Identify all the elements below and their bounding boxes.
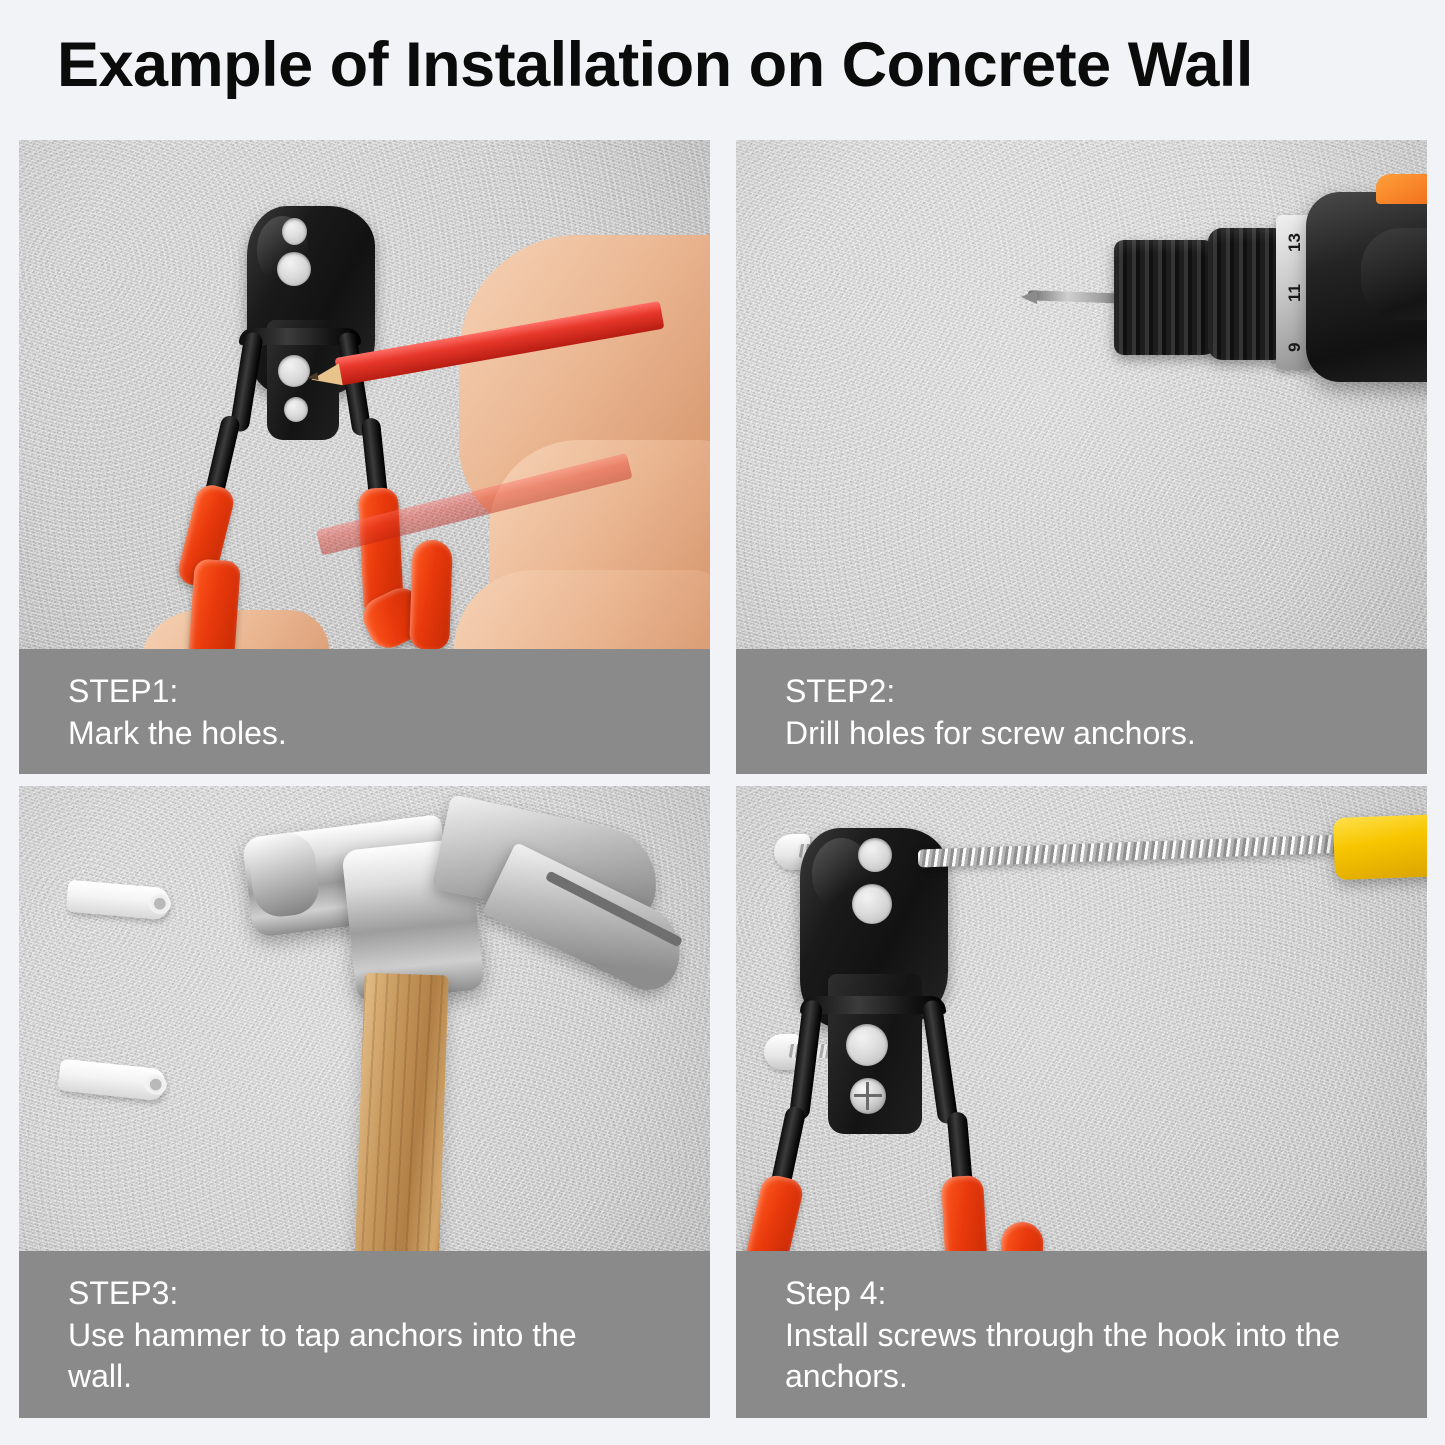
mounting-hole-1	[282, 218, 307, 245]
steps-grid: STEP1: Mark the holes. 13 11 9	[19, 140, 1427, 1416]
clutch-number-11: 11	[1285, 272, 1305, 302]
mounting-hole-2	[852, 884, 892, 924]
hook-arm-right-upper	[921, 999, 958, 1125]
mounting-hole-1	[858, 838, 892, 872]
step-3-label: STEP3:	[68, 1273, 710, 1315]
mounting-hole-3	[846, 1024, 888, 1066]
step-1-label: STEP1:	[68, 671, 710, 713]
drill-bit-point	[1021, 290, 1037, 304]
hook-tip-right-end	[409, 539, 453, 650]
installed-screw-head	[850, 1078, 886, 1114]
step-panel-3: STEP3: Use hammer to tap anchors into th…	[19, 786, 710, 1418]
step-3-caption: STEP3: Use hammer to tap anchors into th…	[19, 1251, 710, 1418]
step-1-caption: STEP1: Mark the holes.	[19, 649, 710, 774]
step-panel-2: 13 11 9 STEP2: Drill holes for screw anc…	[736, 140, 1427, 774]
step-2-text: Drill holes for screw anchors.	[785, 713, 1427, 755]
drill-chuck	[1114, 240, 1219, 355]
step-4-caption: Step 4: Install screws through the hook …	[736, 1251, 1427, 1418]
step-2-caption: STEP2: Drill holes for screw anchors.	[736, 649, 1427, 774]
step-1-text: Mark the holes.	[68, 713, 710, 755]
drill-orange-top-accent	[1376, 174, 1427, 204]
mounting-hole-3	[278, 355, 310, 387]
drill-body-inset	[1361, 228, 1427, 320]
mounting-hole-4	[284, 397, 308, 422]
mounting-hole-2	[277, 252, 311, 286]
step-4-text-line-2: anchors.	[785, 1356, 1427, 1398]
step-4-label: Step 4:	[785, 1273, 1427, 1315]
step-2-label: STEP2:	[785, 671, 1427, 713]
step-panel-4: Step 4: Install screws through the hook …	[736, 786, 1427, 1418]
step-panel-1: STEP1: Mark the holes.	[19, 140, 710, 774]
page-title: Example of Installation on Concrete Wall	[57, 32, 1397, 98]
clutch-number-13: 13	[1285, 222, 1305, 252]
screwdriver-handle	[1333, 814, 1427, 880]
clutch-number-9: 9	[1285, 322, 1305, 352]
hook-arm-left-upper	[789, 999, 823, 1121]
step-3-text-line-1: Use hammer to tap anchors into the	[68, 1315, 710, 1357]
step-4-text-line-1: Install screws through the hook into the	[785, 1315, 1427, 1357]
step-3-text-line-2: wall.	[68, 1356, 710, 1398]
